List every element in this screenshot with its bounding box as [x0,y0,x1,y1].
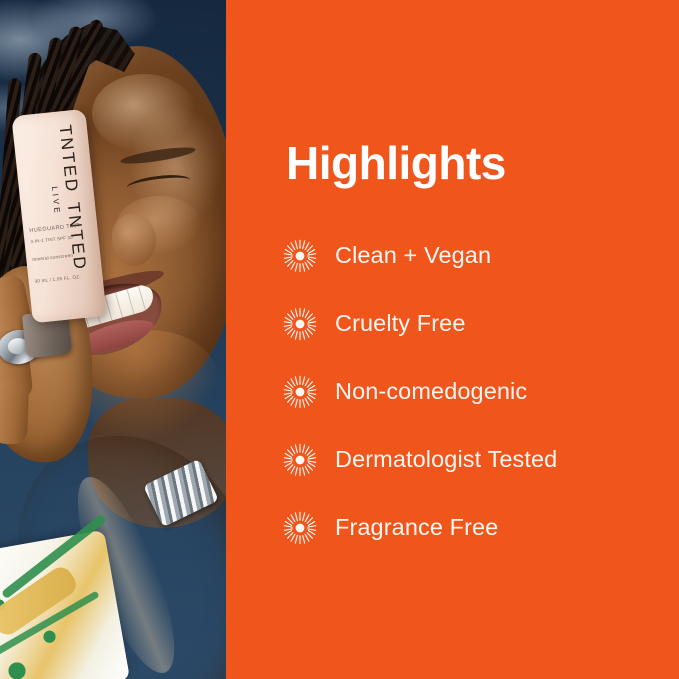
sunburst-icon [283,307,317,341]
list-item: Non-comedogenic [283,358,669,426]
forehead-highlight [92,74,196,152]
product-brand-live: LIVE [50,186,62,216]
list-item-label: Non-comedogenic [335,380,527,404]
list-item-label: Fragrance Free [335,516,498,540]
page-title: Highlights [286,140,506,186]
highlights-panel: Highlights [226,0,679,679]
list-item-label: Clean + Vegan [335,244,491,268]
highlights-marketing-card: TNTED LIVE TNTED HUEGUARD TINT 3-IN-1 TI… [0,0,679,679]
sunburst-icon [283,239,317,273]
nose [112,214,156,266]
finger [0,381,29,444]
product-brand-top: TNTED [55,124,82,195]
highlights-list: Clean + Vegan [283,222,669,562]
list-item: Fragrance Free [283,494,669,562]
list-item: Clean + Vegan [283,222,669,290]
product-lifestyle-photo: TNTED LIVE TNTED HUEGUARD TINT 3-IN-1 TI… [0,0,226,679]
product-size-text: 30 mL / 1.05 FL. OZ. [34,272,96,285]
list-item-label: Dermatologist Tested [335,448,557,472]
list-item: Dermatologist Tested [283,426,669,494]
sunburst-icon [283,511,317,545]
list-item: Cruelty Free [283,290,669,358]
sunburst-icon [283,443,317,477]
sunburst-icon [283,375,317,409]
list-item-label: Cruelty Free [335,312,465,336]
